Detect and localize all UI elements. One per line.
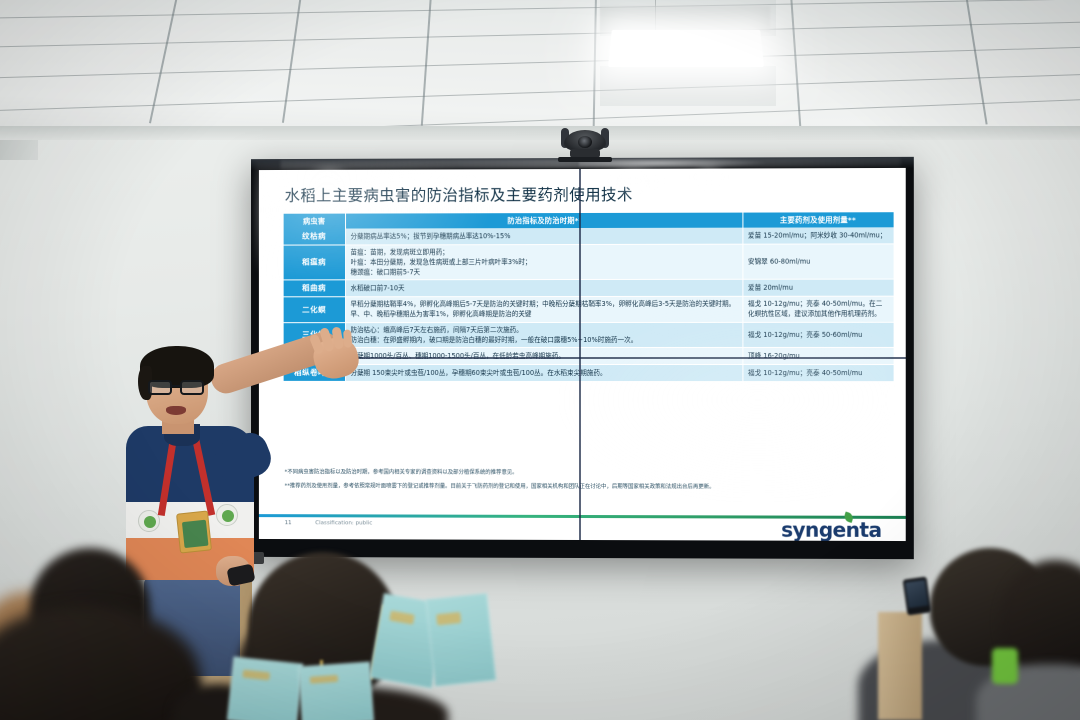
smartphone-camera[interactable] [903, 577, 932, 616]
table-header-row: 病虫害 防治指标及防治时期* 主要药剂及使用剂量** [284, 212, 894, 228]
row-indicator: 防治枯心：蛾高峰后7天左右施药，间隔7天后第二次施药。 防治白穗：在卵盛孵期内，… [345, 322, 742, 348]
presentation-clicker[interactable] [226, 563, 255, 586]
photo-scene: 水稻上主要病虫害的防治指标及主要药剂使用技术 病虫害 防治指标及防治时期* 主要… [0, 0, 1080, 720]
row-dose: 爱苗 15-20ml/mu；阿米妙收 30-40ml/mu； [742, 227, 893, 244]
green-lanyard [992, 648, 1018, 684]
recessed-panel-light [608, 30, 764, 67]
shirt-logo-patch-right [216, 504, 238, 526]
table-row: 稻瘟病 苗瘟：苗期，发现病斑立即用药； 叶瘟：本田分蘖期，发现急性病斑或上部三片… [284, 244, 894, 281]
wall-top-band [0, 126, 1080, 140]
row-indicator: 水稻破口前7-10天 [345, 280, 742, 297]
row-dose: 安锦翠 60-80ml/mu [742, 244, 893, 280]
syngenta-logo: syngenta [781, 518, 881, 541]
row-indicator: 分蘖期 150束尖叶或虫苞/100丛，孕穗期60束尖叶或虫苞/100丛。在水稻束… [345, 364, 742, 381]
row-dose: 福戈 10-12g/mu；亮泰 40-50ml/mu。在二化螟抗性区域，建议添加… [742, 296, 893, 322]
shirt-logo-patch-left [138, 510, 160, 532]
booklet [298, 662, 374, 720]
table-row: 二化螟 早稻分蘖期枯鞘率4%，卵孵化高峰期后5-7天是防治的关键时期；中晚稻分蘖… [284, 296, 894, 322]
row-dose: 爱苗 20ml/mu [742, 279, 893, 296]
presenter-mouth [166, 406, 186, 415]
presenter-glasses-icon [148, 380, 208, 395]
table-row: 三化螟 防治枯心：蛾高峰后7天左右施药，间隔7天后第二次施药。 防治白穗：在卵盛… [284, 322, 894, 348]
table-row: 稻飞虱 分蘖期1000头/百丛、穗期1000-1500头/百丛，在低龄若虫高峰期… [284, 348, 894, 365]
ceiling-light-housing [600, 6, 770, 32]
table-row: 稻纵卷叶螟 分蘖期 150束尖叶或虫苞/100丛，孕穗期60束尖叶或虫苞/100… [284, 364, 894, 381]
row-indicator: 苗瘟：苗期，发现病斑立即用药； 叶瘟：本田分蘖期，发现急性病斑或上部三片叶病叶率… [345, 244, 742, 280]
row-indicator: 早稻分蘖期枯鞘率4%，卵孵化高峰期后5-7天是防治的关键时期；中晚稻分蘖期枯鞘率… [345, 297, 742, 323]
camera-lens-icon [578, 136, 592, 148]
column-header-indicator: 防治指标及防治时期* [345, 213, 742, 229]
booklet [426, 593, 497, 687]
table-row: 纹枯病 分蘖期病丛率达5%；拔节到孕穗期病丛率达10%-15% 爱苗 15-20… [284, 227, 894, 245]
column-header-dose: 主要药剂及使用剂量** [742, 212, 893, 227]
slide-footnote-2: **推荐药剂及使用剂量，参考依照常规叶面喷雾下的登记或推荐剂量。目前关于飞防药剂… [285, 482, 885, 492]
table-row: 稻曲病 水稻破口前7-10天 爱苗 20ml/mu [284, 279, 894, 297]
row-dose: 顶峰 16-20g/mu [742, 348, 893, 365]
slide-footnote-1: *不同病虫害防治指标以及防治时期，参考国内相关专家的调查资料以及部分植保系统的推… [285, 468, 885, 478]
row-pest-label: 二化螟 [284, 297, 345, 322]
row-indicator: 分蘖期病丛率达5%；拔节到孕穗期病丛率达10%-15% [345, 228, 742, 245]
ptz-conference-camera-icon [558, 126, 612, 162]
row-dose: 福戈 10-12g/mu；亮泰 50-60ml/mu [742, 322, 893, 348]
column-header-pest: 病虫害 [284, 214, 345, 229]
row-pest-label: 纹枯病 [284, 229, 345, 245]
row-dose: 福戈 10-12g/mu；亮泰 40-50ml/mu [742, 364, 893, 381]
row-pest-label: 稻曲病 [284, 280, 345, 297]
suspended-tile-ceiling [0, 0, 1080, 128]
row-pest-label: 稻瘟病 [284, 245, 345, 281]
row-indicator: 分蘖期1000头/百丛、穗期1000-1500头/百丛，在低龄若虫高峰期施药。 [345, 348, 742, 365]
side-table [878, 612, 922, 720]
presenter-badge [176, 510, 212, 553]
videowall-seam-vertical [579, 169, 581, 540]
booklet [227, 657, 303, 720]
